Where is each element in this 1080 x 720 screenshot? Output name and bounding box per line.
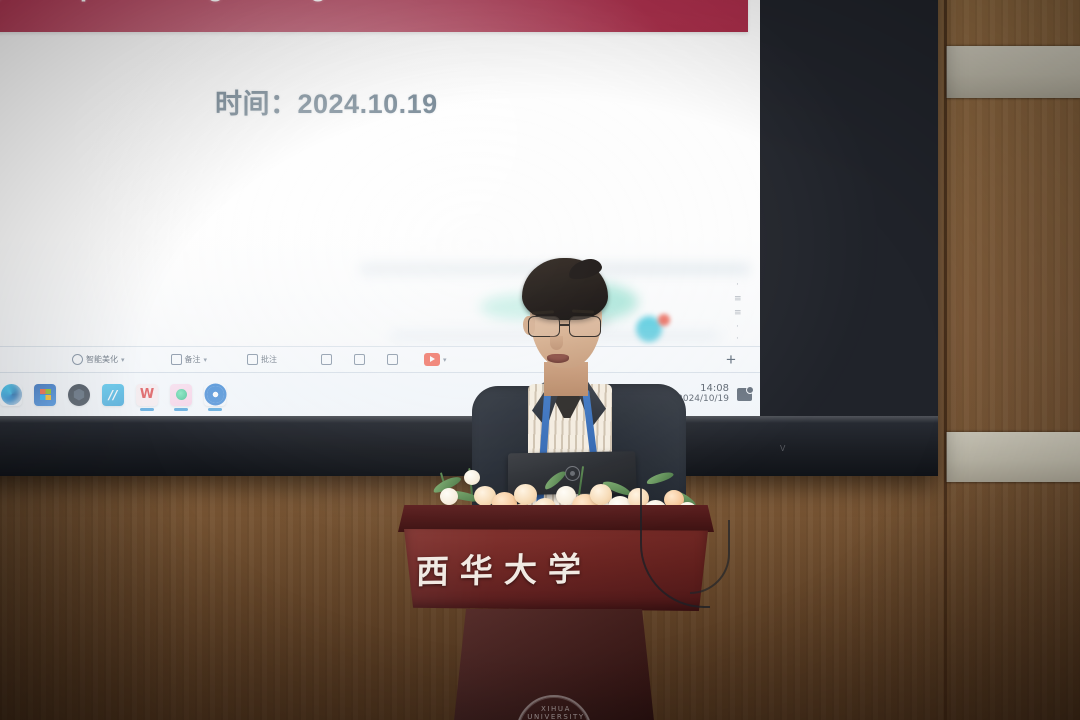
flower-bloom (464, 470, 480, 485)
mouth (547, 354, 569, 363)
wall-trim-band-lower (946, 432, 1080, 482)
split-view-icon (321, 354, 332, 365)
university-seal-text: XIHUA UNIVERSITY (518, 705, 594, 720)
notification-tray-icon[interactable] (737, 388, 752, 401)
chevron-down-icon: ▾ (121, 356, 125, 364)
dark-hexagon-app-icon[interactable] (68, 384, 90, 406)
flower-stem (578, 466, 584, 496)
microsoft-edge-icon[interactable] (0, 384, 22, 406)
sparkle-shield-icon (72, 354, 83, 365)
list-lines-icon (171, 354, 182, 365)
panel-mark-1: · (736, 280, 739, 290)
gear-glyph (207, 386, 224, 403)
toolbar-notes[interactable]: 备注 ▾ (171, 354, 208, 365)
edge-swirl-glyph (1, 384, 22, 405)
slide-title-banner (0, 0, 748, 32)
bezel-sheen (0, 416, 938, 423)
glasses-bridge (560, 324, 569, 326)
grid-view-icon (354, 354, 365, 365)
lectern-engraved-name: 西华大学 (416, 541, 667, 594)
flower-bloom (440, 488, 458, 505)
toolbar-annotation[interactable]: 批注 (247, 354, 277, 365)
toolbar-split-view-button[interactable] (321, 354, 332, 365)
comment-box-icon (247, 354, 258, 365)
nose (550, 336, 563, 350)
flower-leaf (645, 470, 674, 486)
chevron-down-icon: ▾ (443, 356, 447, 364)
settings-gear-icon[interactable] (204, 384, 226, 406)
present-play-icon (424, 353, 440, 366)
eyeglasses-icon (526, 316, 608, 337)
reading-view-icon (387, 354, 398, 365)
chevron-down-icon: ▾ (204, 356, 208, 364)
toolbar-smart-beautify-label: 智能美化 (86, 354, 118, 365)
toolbar-smart-beautify[interactable]: 智能美化 ▾ (72, 354, 125, 365)
bezel-brand-label: V (780, 444, 786, 453)
slide-title-line-visible: rning guides protein engineering (0, 0, 760, 3)
panel-mark-2: ≡ (734, 294, 742, 304)
microsoft-store-icon[interactable] (34, 384, 56, 406)
slide-date-text: 时间：2024.10.19 (215, 82, 438, 121)
toolbar-present-button[interactable]: ▾ (424, 353, 447, 366)
toolbar-notes-label: 备注 (185, 354, 201, 365)
panel-mark-3: ≡ (734, 308, 742, 318)
lens-left (528, 316, 560, 337)
wall-trim-band-upper (946, 46, 1080, 98)
conference-photo-scene: Machine learning guides protein engineer… (0, 0, 1080, 720)
lens-right (569, 316, 601, 337)
toolbar-annotation-label: 批注 (261, 354, 277, 365)
panel-mark-5: · (736, 334, 739, 344)
wall-panel-seam (944, 0, 947, 720)
wps-office-icon[interactable]: W (136, 384, 158, 406)
pink-bulb-app-icon[interactable] (170, 384, 192, 406)
taskbar-icon-group: W (0, 384, 226, 406)
panel-mark-4: · (736, 322, 739, 332)
toolbar-grid-view-button[interactable] (354, 354, 365, 365)
flower-bloom (514, 484, 537, 505)
toolbar-reading-view-button[interactable] (387, 354, 398, 365)
projection-screen-frame: Machine learning guides protein engineer… (0, 0, 938, 476)
blue-slash-app-icon[interactable] (102, 384, 124, 406)
